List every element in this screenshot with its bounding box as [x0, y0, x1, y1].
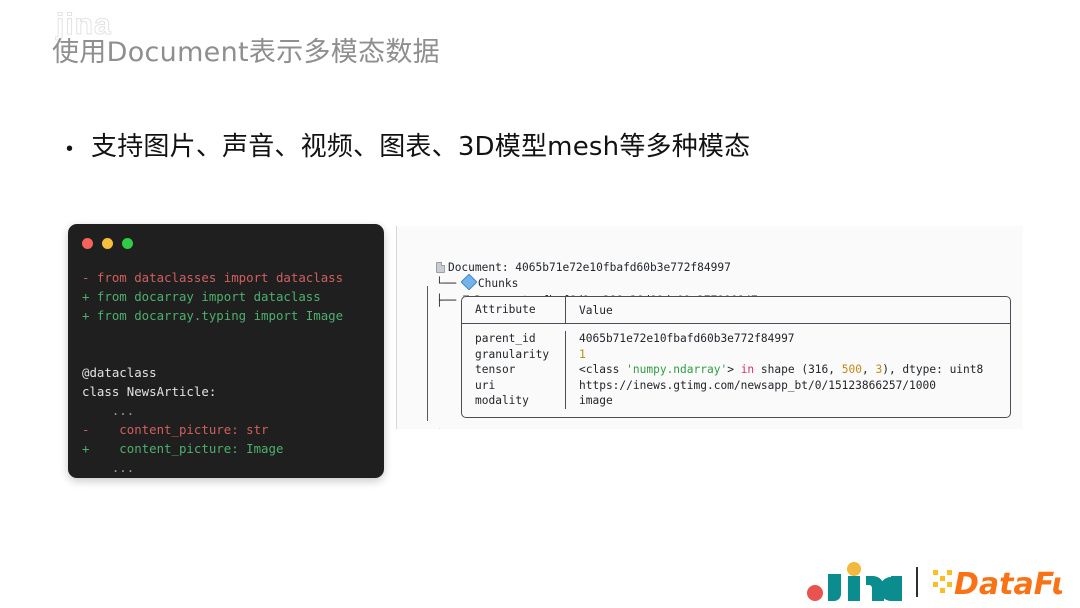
- code-line: + from docarray import dataclass: [82, 287, 376, 306]
- bullet-marker-icon: •: [66, 139, 73, 159]
- code-line: - from dataclasses import dataclass: [82, 268, 376, 287]
- document-tree-panel: Document: 4065b71e72e10fbafd60b3e772f849…: [396, 226, 1023, 429]
- attribute-name: tensor: [475, 362, 565, 378]
- logo-divider: [916, 567, 918, 597]
- window-traffic-lights: [82, 238, 133, 249]
- code-line: - content_picture: str: [82, 420, 376, 439]
- table-body: parent_idgranularitytensorurimodality 40…: [462, 324, 1010, 417]
- close-dot-icon[interactable]: [82, 238, 93, 249]
- column-header-value: Value: [566, 304, 613, 317]
- attribute-name: granularity: [475, 347, 565, 363]
- minimize-dot-icon[interactable]: [102, 238, 113, 249]
- value-uri: https://inews.gtimg.com/newsapp_bt/0/151…: [579, 378, 983, 394]
- code-line: ...: [82, 401, 376, 420]
- datafun-dots-icon: [933, 570, 952, 593]
- code-line: + content_picture: Image: [82, 439, 376, 458]
- table-header-row: Attribute Value: [462, 297, 1010, 324]
- code-line: + from docarray.typing import Image: [82, 306, 376, 325]
- value-tensor: <class 'numpy.ndarray'> in shape (316, 5…: [579, 362, 983, 378]
- jina-logo: [806, 562, 902, 602]
- tree-child-prefix: ├──: [436, 294, 463, 307]
- code-content: - from dataclasses import dataclass+ fro…: [82, 268, 376, 477]
- attribute-table: Attribute Value parent_idgranularitytens…: [461, 296, 1011, 418]
- bullet-item: • 支持图片、声音、视频、图表、3D模型mesh等多种模态: [66, 126, 750, 163]
- attribute-name-column: parent_idgranularitytensorurimodality: [462, 331, 566, 409]
- code-line: @dataclass: [82, 363, 376, 382]
- value-parent-id: 4065b71e72e10fbafd60b3e772f84997: [579, 331, 983, 347]
- datafun-wordmark: DataFun.: [954, 567, 1062, 602]
- page-title: 使用Document表示多模态数据: [52, 30, 440, 69]
- code-line: [82, 344, 376, 363]
- code-window: - from dataclasses import dataclass+ fro…: [68, 224, 384, 478]
- value-granularity: 1: [579, 347, 983, 363]
- attribute-value-column: 4065b71e72e10fbafd60b3e772f849971<class …: [566, 331, 983, 409]
- code-line: class NewsArticle:: [82, 382, 376, 401]
- code-line: [82, 325, 376, 344]
- value-modality: image: [579, 393, 983, 409]
- maximize-dot-icon[interactable]: [122, 238, 133, 249]
- attribute-name: uri: [475, 378, 565, 394]
- footer-logos: DataFun.: [806, 562, 1062, 602]
- attribute-name: parent_id: [475, 331, 565, 347]
- datafun-logo: DataFun.: [932, 562, 1062, 602]
- attribute-name: modality: [475, 393, 565, 409]
- column-header-attribute: Attribute: [462, 297, 566, 323]
- bullet-label: 支持图片、声音、视频、图表、3D模型mesh等多种模态: [91, 126, 750, 163]
- code-line: ...: [82, 458, 376, 477]
